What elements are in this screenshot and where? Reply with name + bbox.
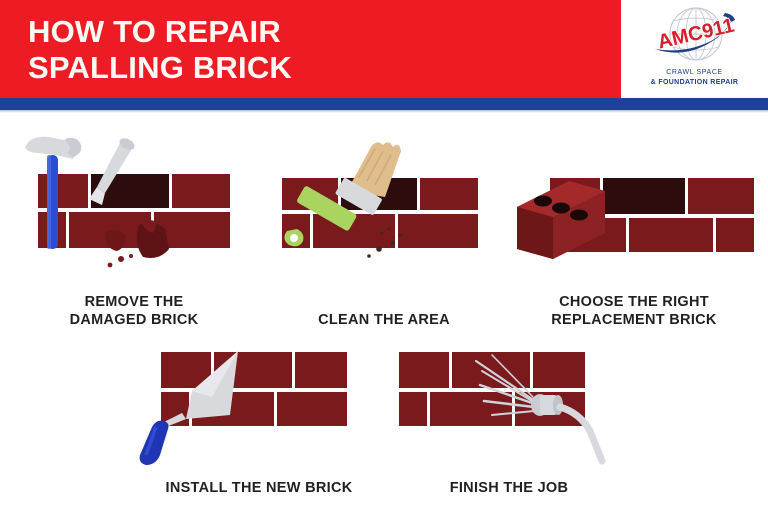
page-header: HOW TO REPAIR SPALLING BRICK [0, 0, 768, 98]
brick-hole [552, 203, 570, 214]
logo-tagline: CRAWL SPACE & FOUNDATION REPAIR [621, 68, 768, 87]
step-4-illustration [134, 335, 384, 465]
page-title-line-2: SPALLING BRICK [28, 50, 588, 86]
step-5-caption-line-1: FINISH THE JOB [384, 479, 634, 497]
step-3-caption-line-1: CHOOSE THE RIGHT [509, 293, 759, 311]
page-title-line-1: HOW TO REPAIR [28, 14, 588, 50]
step-4-caption-line-1: INSTALL THE NEW BRICK [134, 479, 384, 497]
step-3-illustration [509, 125, 759, 275]
step-1-illustration [9, 125, 259, 275]
brick-hole [570, 210, 588, 221]
step-1-caption: REMOVE THE DAMAGED BRICK [9, 293, 259, 329]
step-5-caption: FINISH THE JOB [384, 479, 634, 497]
step-choose-replacement-brick: CHOOSE THE RIGHT REPLACEMENT BRICK [509, 125, 759, 335]
step-5-illustration [384, 335, 634, 465]
amc911-logo-icon: AMC911 [647, 4, 745, 66]
logo-tagline-line-1: CRAWL SPACE [621, 68, 768, 78]
brand-logo[interactable]: AMC911 CRAWL SPACE & FOUNDATION REPAIR [621, 0, 768, 98]
brick-hole [534, 196, 552, 207]
brick-wall-icon [37, 173, 231, 249]
step-install-new-brick: INSTALL THE NEW BRICK [134, 335, 384, 515]
header-accent-bar [0, 98, 768, 110]
step-3-caption: CHOOSE THE RIGHT REPLACEMENT BRICK [509, 293, 759, 329]
step-1-caption-line-2: DAMAGED BRICK [9, 311, 259, 329]
step-2-caption: CLEAN THE AREA [259, 311, 509, 329]
step-3-caption-line-2: REPLACEMENT BRICK [509, 311, 759, 329]
step-4-caption: INSTALL THE NEW BRICK [134, 479, 384, 497]
steps-row-top: REMOVE THE DAMAGED BRICK [0, 125, 768, 335]
steps-row-bottom: INSTALL THE NEW BRICK [0, 335, 768, 515]
page-title: HOW TO REPAIR SPALLING BRICK [28, 14, 588, 86]
brick-cavity [603, 178, 685, 214]
step-1-caption-line-1: REMOVE THE [9, 293, 259, 311]
logo-tagline-line-2: & FOUNDATION REPAIR [621, 78, 768, 88]
steps-container: REMOVE THE DAMAGED BRICK [0, 113, 768, 516]
step-2-illustration [259, 125, 509, 275]
step-finish-the-job: FINISH THE JOB [384, 335, 634, 515]
step-clean-the-area: CLEAN THE AREA [259, 125, 509, 335]
step-2-caption-line-1: CLEAN THE AREA [259, 311, 509, 329]
step-remove-damaged-brick: REMOVE THE DAMAGED BRICK [9, 125, 259, 335]
